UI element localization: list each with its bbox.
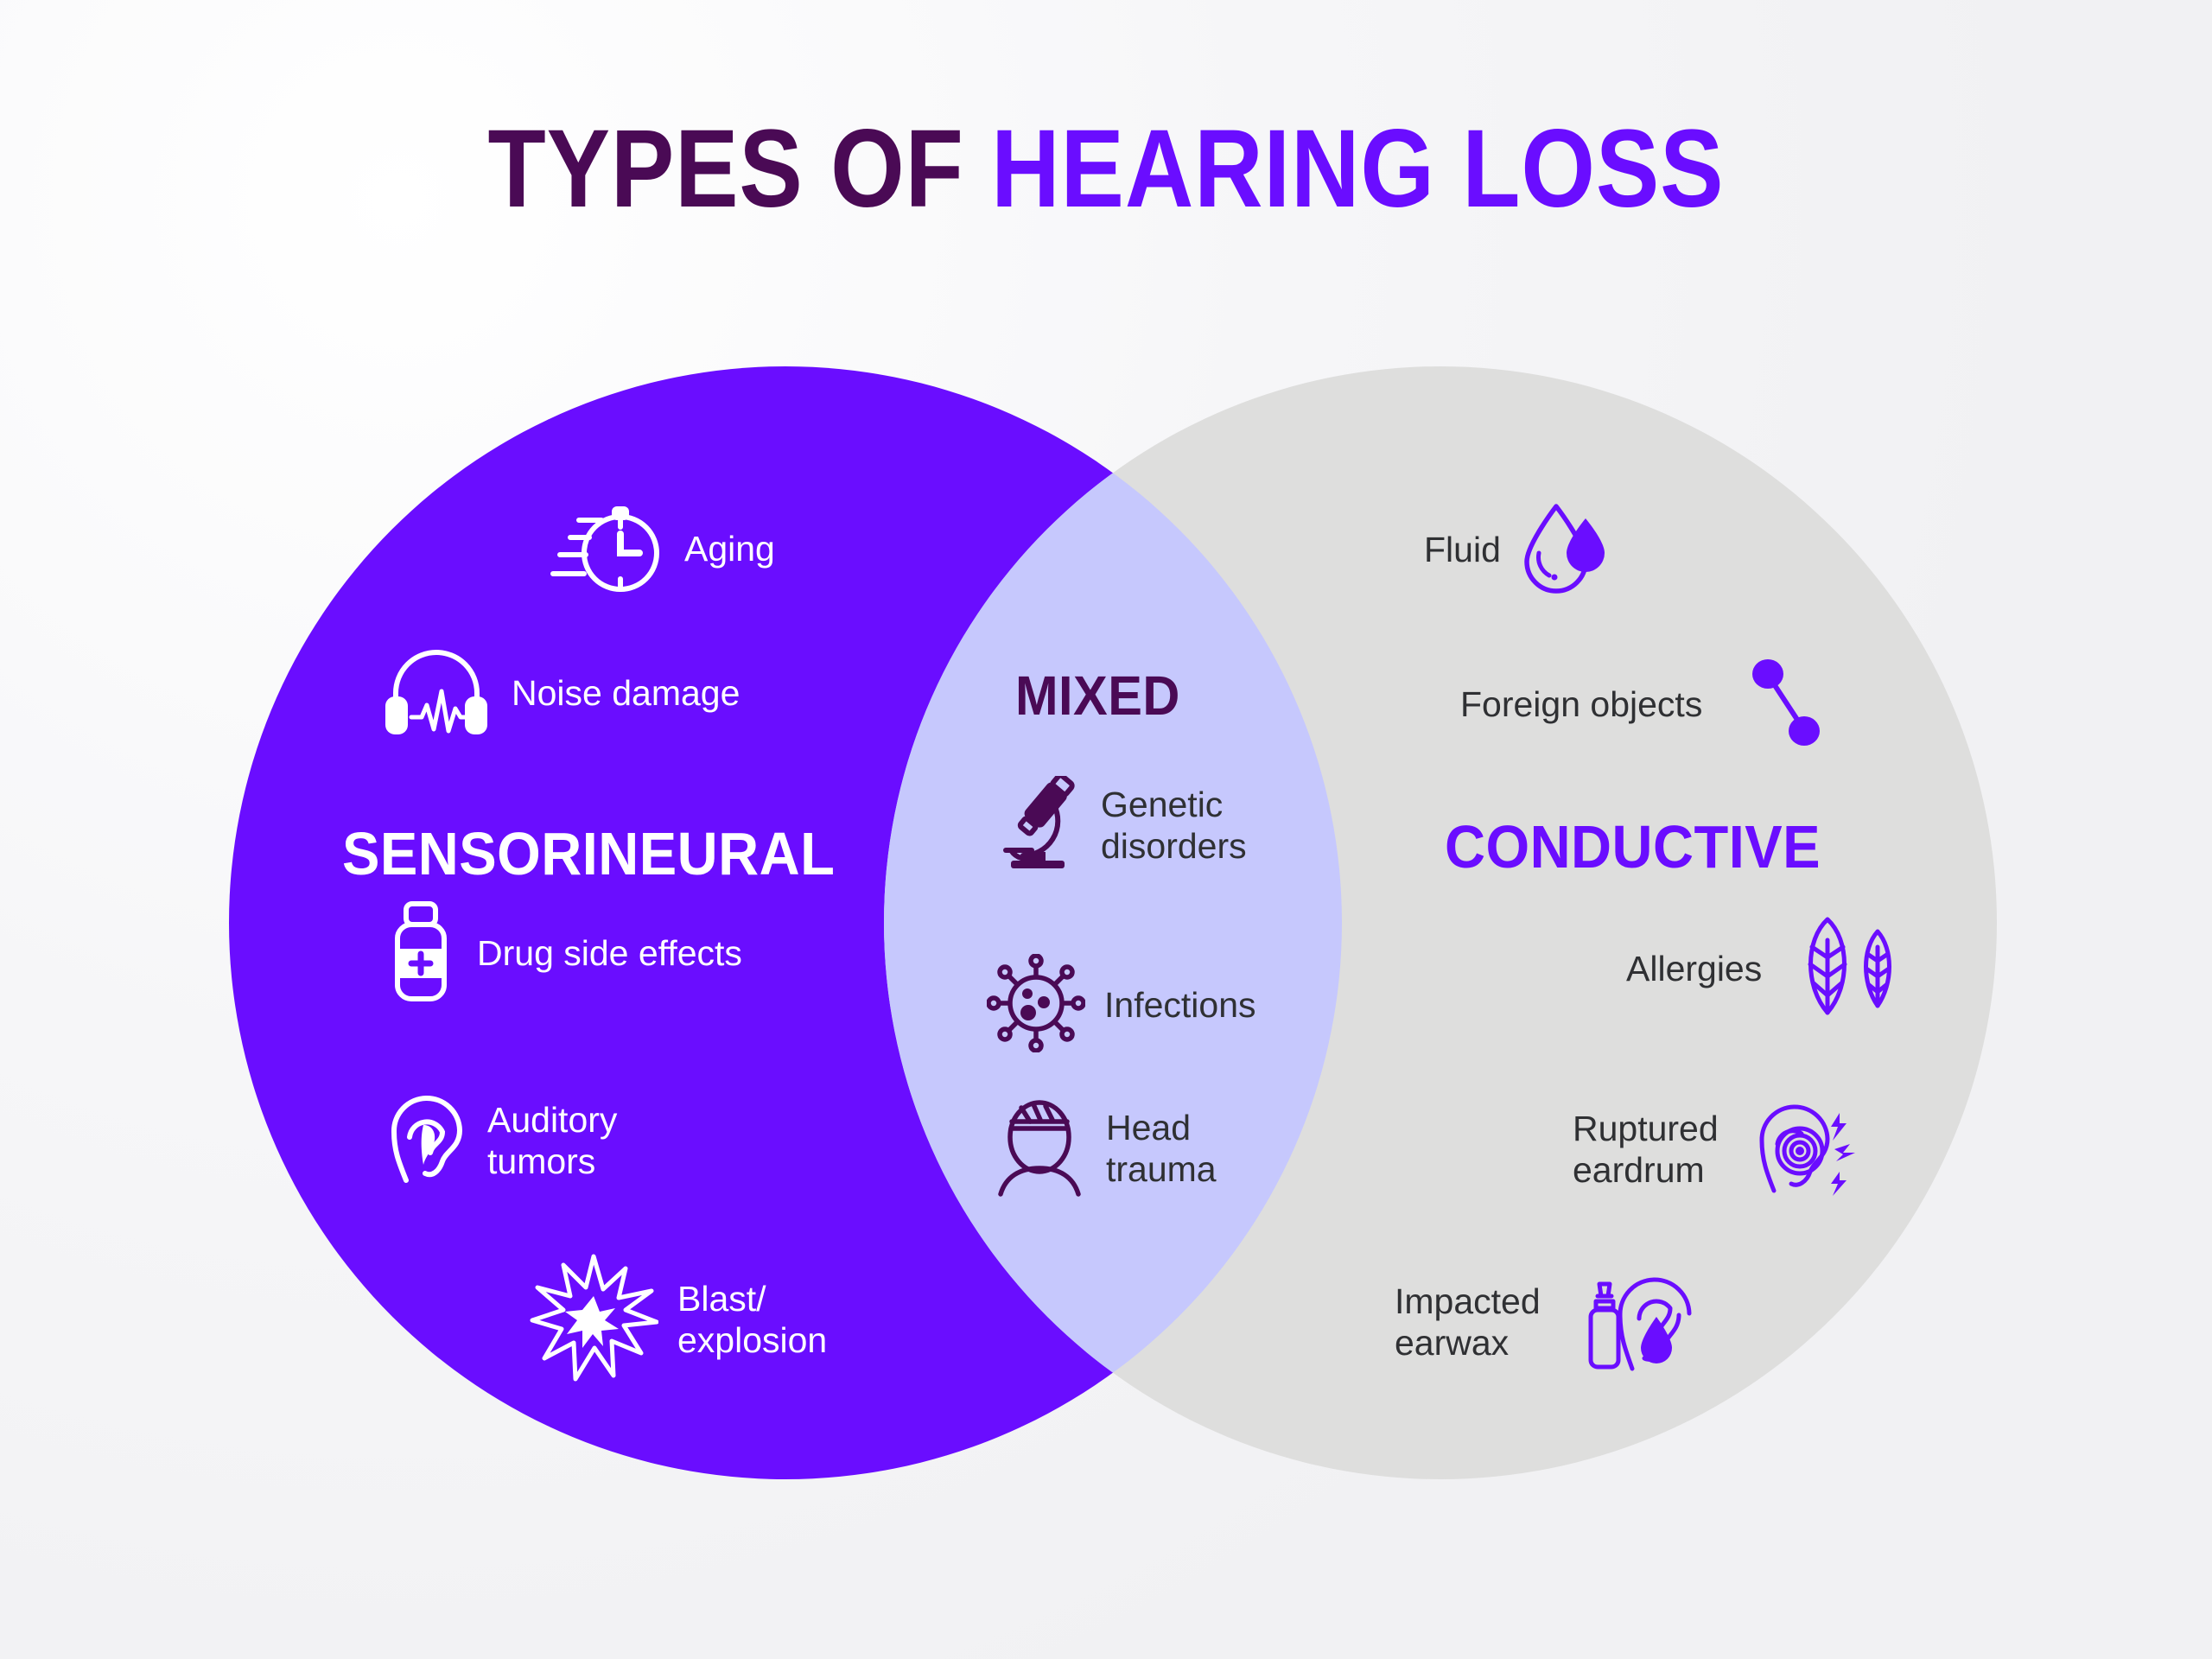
item-aging: Aging: [544, 499, 775, 599]
medicine-bottle-icon: [384, 900, 458, 1007]
ear-lightning-icon: [1751, 1096, 1859, 1204]
item-label: Blast/ explosion: [677, 1279, 827, 1360]
item-label: Foreign objects: [1460, 684, 1702, 725]
ear-drops-bottle-icon: [1580, 1267, 1693, 1378]
cotton-swab-icon: [1747, 655, 1825, 754]
item-label: Auditory tumors: [487, 1100, 617, 1181]
item-label: Genetic disorders: [1101, 785, 1247, 866]
leaves-icon: [1791, 916, 1902, 1022]
item-noise-damage: Noise damage: [380, 646, 740, 741]
item-head-trauma: Head trauma: [992, 1096, 1217, 1202]
item-auditory-tumors: Auditory tumors: [389, 1087, 617, 1195]
item-genetic-disorders: Genetic disorders: [992, 776, 1247, 875]
infographic-canvas: TYPES OF HEARING LOSS SENSORINEURAL MIXE…: [0, 0, 2212, 1659]
heading-conductive: CONDUCTIVE: [1445, 812, 1821, 881]
item-fluid: Fluid: [1424, 499, 1615, 601]
item-infections: Infections: [987, 954, 1256, 1057]
item-label: Noise damage: [512, 673, 740, 714]
bandaged-head-icon: [992, 1096, 1087, 1202]
item-allergies: Allergies: [1626, 916, 1902, 1022]
stopwatch-icon: [544, 499, 665, 599]
item-drug-side-effects: Drug side effects: [384, 900, 742, 1007]
explosion-burst-icon: [529, 1253, 658, 1387]
item-label: Allergies: [1626, 949, 1762, 989]
heading-sensorineural: SENSORINEURAL: [342, 819, 835, 888]
item-label: Impacted earwax: [1395, 1281, 1541, 1363]
item-label: Infections: [1104, 985, 1256, 1026]
item-blast-explosion: Blast/ explosion: [529, 1253, 827, 1387]
ear-icon: [389, 1087, 468, 1195]
water-droplet-icon: [1520, 499, 1615, 601]
microscope-icon: [992, 776, 1082, 875]
item-label: Aging: [684, 529, 775, 569]
headphones-waveform-icon: [380, 646, 493, 741]
item-label: Fluid: [1424, 530, 1501, 570]
item-foreign-objects: Foreign objects: [1460, 655, 1825, 754]
item-label: Ruptured eardrum: [1573, 1109, 1719, 1190]
item-impacted-earwax: Impacted earwax: [1395, 1267, 1693, 1378]
heading-mixed: MIXED: [1015, 664, 1180, 728]
item-label: Drug side effects: [477, 933, 742, 974]
item-label: Head trauma: [1106, 1108, 1217, 1189]
item-ruptured-eardrum: Ruptured eardrum: [1573, 1096, 1859, 1204]
virus-icon: [987, 954, 1085, 1057]
